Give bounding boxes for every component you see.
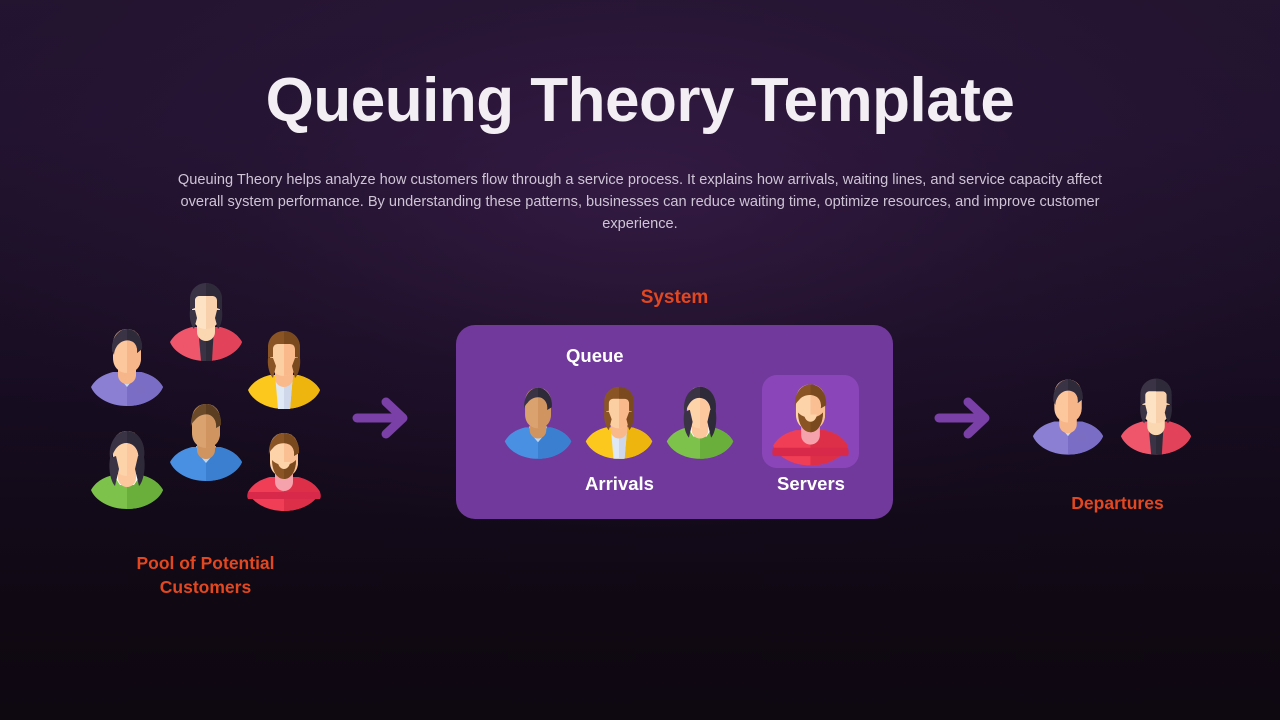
system-group: Queue xyxy=(456,325,893,519)
avatar-dep-2 xyxy=(1118,373,1194,468)
page-title: Queuing Theory Template xyxy=(0,68,1280,133)
pool-label: Pool of Potential Customers xyxy=(88,552,323,599)
avatar-yellow-jacket-brown-bob xyxy=(248,331,320,409)
avatar-purple-shirt-dark-short xyxy=(91,329,163,406)
avatar-queue-3 xyxy=(664,379,736,474)
pool-group: Pool of Potential Customers xyxy=(88,280,323,580)
departures-label: Departures xyxy=(1025,493,1210,514)
pool-label-line-2: Customers xyxy=(160,577,251,597)
avatar-pool-1 xyxy=(167,280,245,372)
avatar-red-sweater-beard xyxy=(247,433,321,511)
avatar-pink-jacket-dark-bob xyxy=(1121,379,1191,455)
avatar-yellow-jacket-brown-bob xyxy=(586,387,652,459)
departures-group: Departures xyxy=(1030,373,1205,523)
avatar-red-sweater-beard xyxy=(772,384,848,465)
avatar-pool-6 xyxy=(245,430,323,522)
pool-avatars xyxy=(88,280,323,525)
queue-avatars xyxy=(502,379,737,474)
slide-canvas: Queuing Theory Template Queuing Theory h… xyxy=(0,0,1280,720)
avatar-dep-1 xyxy=(1030,373,1106,468)
avatar-pool-3 xyxy=(245,328,323,420)
avatar-pool-5 xyxy=(167,400,245,492)
avatar-pink-jacket-dark-bob xyxy=(170,283,242,361)
arrow-right-icon-system-to-departures xyxy=(934,396,998,440)
servers-label: Servers xyxy=(756,473,866,495)
avatar-server-1 xyxy=(770,379,851,468)
avatar-green-sweater-dark-long xyxy=(667,387,733,459)
page-subtitle: Queuing Theory helps analyze how custome… xyxy=(158,170,1123,236)
server-box xyxy=(762,375,859,468)
avatar-queue-1 xyxy=(502,379,574,474)
queuing-diagram: Pool of Potential Customers System Queue xyxy=(0,255,1280,615)
avatar-pool-2 xyxy=(88,325,166,417)
departures-avatars xyxy=(1030,373,1205,468)
avatar-queue-2 xyxy=(583,379,655,474)
avatar-green-sweater-dark-long xyxy=(91,431,163,509)
queue-label: Queue xyxy=(566,345,624,367)
avatar-blue-shirt-dark-short xyxy=(505,388,571,459)
arrivals-label: Arrivals xyxy=(502,473,737,495)
arrow-right-icon-pool-to-system xyxy=(352,396,416,440)
pool-label-line-1: Pool of Potential xyxy=(136,553,274,573)
avatar-pool-4 xyxy=(88,428,166,520)
avatar-purple-shirt-dark-short xyxy=(1033,380,1103,455)
avatar-blue-shirt-brown-short xyxy=(170,404,242,481)
system-label: System xyxy=(456,287,893,309)
